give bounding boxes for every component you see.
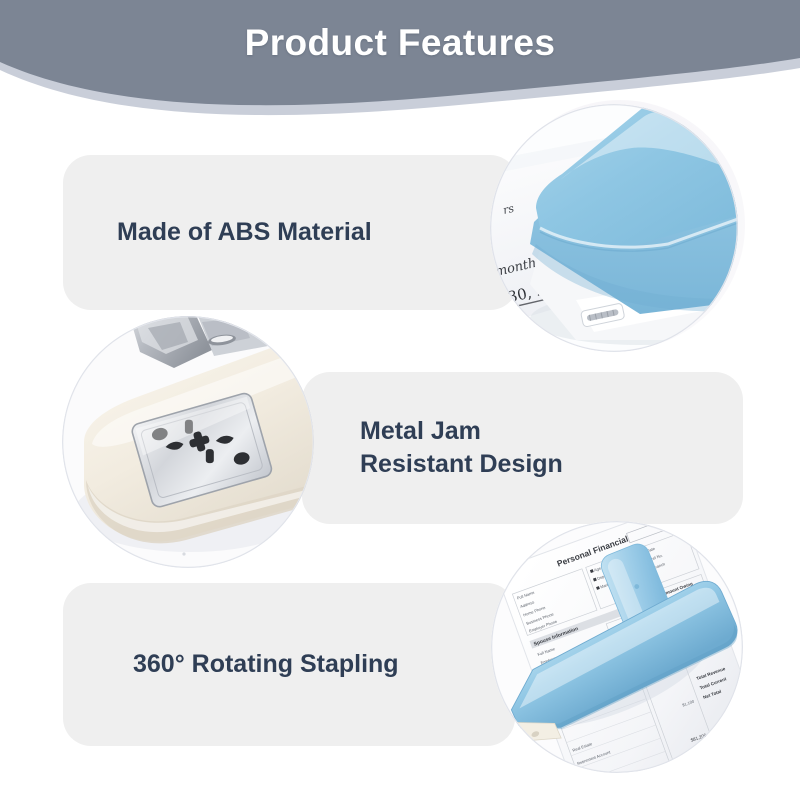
- feature-card-rotating-stapling: 360° Rotating Stapling: [63, 583, 515, 746]
- header-banner: Product Features: [0, 0, 800, 130]
- page-title: Product Features: [0, 22, 800, 64]
- feature-label-jam-resistant: Metal Jam Resistant Design: [360, 415, 563, 481]
- photo-metal-anvil-plate: [62, 316, 314, 568]
- feature-card-jam-resistant: Metal Jam Resistant Design: [302, 372, 743, 524]
- feature-label-rotating-stapling: 360° Rotating Stapling: [133, 648, 399, 681]
- feature-card-abs-material: Made of ABS Material: [63, 155, 518, 310]
- product-features-infographic: Product Features Made of ABS Material: [0, 0, 800, 800]
- photo-rotating-stapler-on-form: Personal Financial Full Name Address Hom…: [491, 521, 743, 773]
- photo-blue-stapler-on-document: rs months end t. 30, 2018: [490, 104, 738, 352]
- feature-label-abs-material: Made of ABS Material: [117, 216, 372, 249]
